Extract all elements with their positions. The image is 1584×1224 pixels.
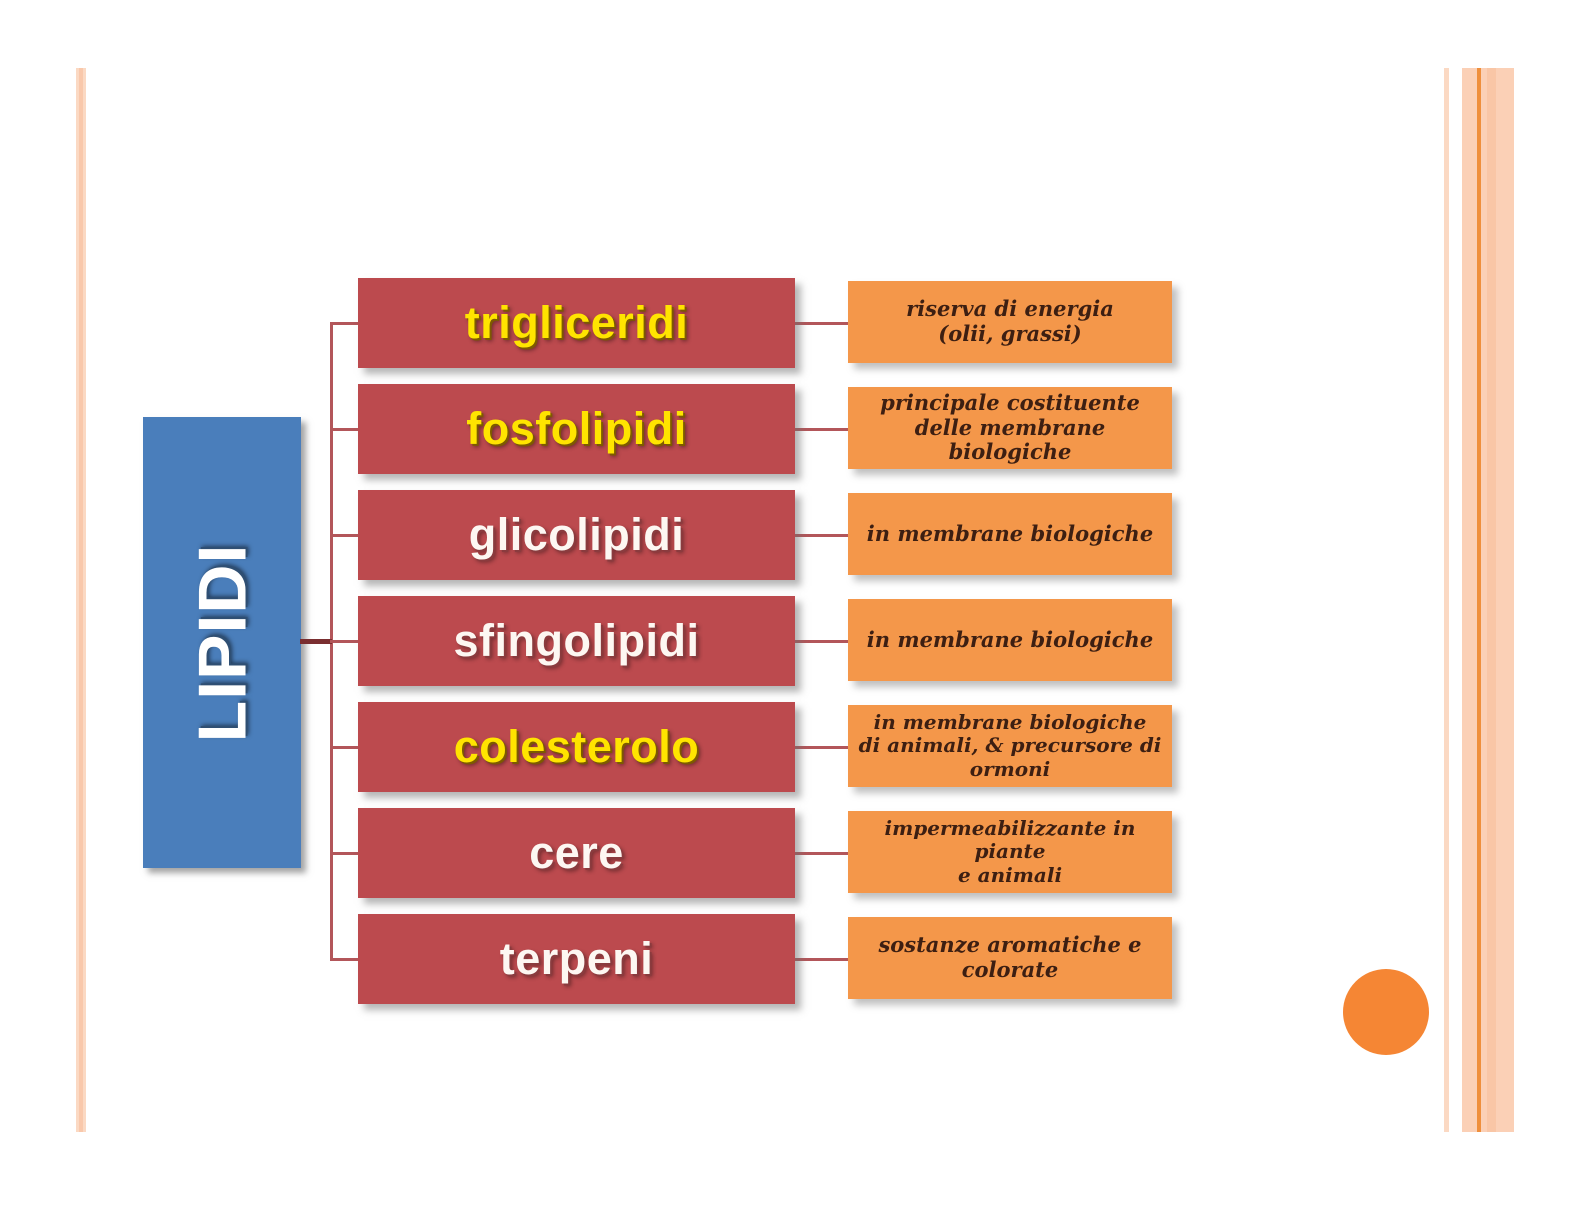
right-edge-stripe-accent [1477, 68, 1481, 1132]
root-node-lipidi: LIPIDI [143, 417, 301, 868]
category-label: cere [529, 827, 624, 879]
connector-left-5 [330, 746, 359, 749]
category-label: glicolipidi [469, 509, 685, 561]
description-line: colorate [962, 957, 1059, 982]
description-line: impermeabilizzante in piante [885, 816, 1136, 864]
category-label: trigliceridi [465, 297, 689, 349]
connector-right-6 [795, 852, 849, 855]
category-box-terpeni[interactable]: terpeni [358, 914, 795, 1004]
connector-left-2 [330, 428, 359, 431]
slide-canvas: LIPIDI trigliceridi riserva di energia (… [0, 0, 1584, 1224]
description-line: ormoni [970, 757, 1051, 781]
description-box-fosfolipidi[interactable]: principale costituente delle membrane bi… [848, 387, 1172, 469]
description-label: sostanze aromatiche e colorate [878, 933, 1141, 983]
connector-right-3 [795, 534, 849, 537]
category-box-fosfolipidi[interactable]: fosfolipidi [358, 384, 795, 474]
category-box-cere[interactable]: cere [358, 808, 795, 898]
category-box-trigliceridi[interactable]: trigliceridi [358, 278, 795, 368]
description-box-glicolipidi[interactable]: in membrane biologiche [848, 493, 1172, 575]
description-label: principale costituente delle membrane bi… [854, 391, 1166, 465]
description-line: (olii, grassi) [938, 321, 1081, 346]
description-line: in membrane biologiche [874, 710, 1147, 734]
left-edge-stripe-mid [79, 68, 83, 1132]
right-edge-stripe-pale [1487, 68, 1496, 1132]
connector-left-3 [330, 534, 359, 537]
category-box-sfingolipidi[interactable]: sfingolipidi [358, 596, 795, 686]
description-label: impermeabilizzante in piante e animali [854, 817, 1166, 888]
accent-circle-decoration [1343, 969, 1429, 1055]
description-line: in membrane biologiche [867, 627, 1153, 652]
description-label: in membrane biologiche [867, 522, 1153, 547]
connector-right-4 [795, 640, 849, 643]
right-edge-stripe-thin [1444, 68, 1449, 1132]
description-box-cere[interactable]: impermeabilizzante in piante e animali [848, 811, 1172, 893]
description-box-colesterolo[interactable]: in membrane biologiche di animali, & pre… [848, 705, 1172, 787]
connector-right-2 [795, 428, 849, 431]
connector-right-5 [795, 746, 849, 749]
connector-left-7 [330, 958, 359, 961]
connector-right-7 [795, 958, 849, 961]
connector-root-stub [300, 639, 332, 644]
connector-left-6 [330, 852, 359, 855]
root-node-label: LIPIDI [183, 543, 261, 742]
connector-right-1 [795, 322, 849, 325]
category-label: fosfolipidi [466, 403, 686, 455]
category-box-glicolipidi[interactable]: glicolipidi [358, 490, 795, 580]
description-box-sfingolipidi[interactable]: in membrane biologiche [848, 599, 1172, 681]
description-line: e animali [958, 863, 1062, 887]
description-label: in membrane biologiche [867, 628, 1153, 653]
connector-left-4 [330, 640, 359, 643]
description-label: in membrane biologiche di animali, & pre… [859, 711, 1162, 782]
category-label: sfingolipidi [454, 615, 700, 667]
description-line: riserva di energia [906, 296, 1114, 321]
description-box-terpeni[interactable]: sostanze aromatiche e colorate [848, 917, 1172, 999]
connector-left-1 [330, 322, 359, 325]
category-label: colesterolo [454, 721, 700, 773]
description-line: in membrane biologiche [867, 521, 1153, 546]
category-box-colesterolo[interactable]: colesterolo [358, 702, 795, 792]
description-line: sostanze aromatiche e [878, 932, 1141, 957]
category-label: terpeni [500, 933, 654, 985]
description-box-trigliceridi[interactable]: riserva di energia (olii, grassi) [848, 281, 1172, 363]
description-label: riserva di energia (olii, grassi) [906, 297, 1114, 347]
description-line: di animali, & precursore di [859, 733, 1162, 757]
description-line: principale costituente [880, 390, 1140, 415]
description-line: delle membrane biologiche [915, 415, 1105, 465]
